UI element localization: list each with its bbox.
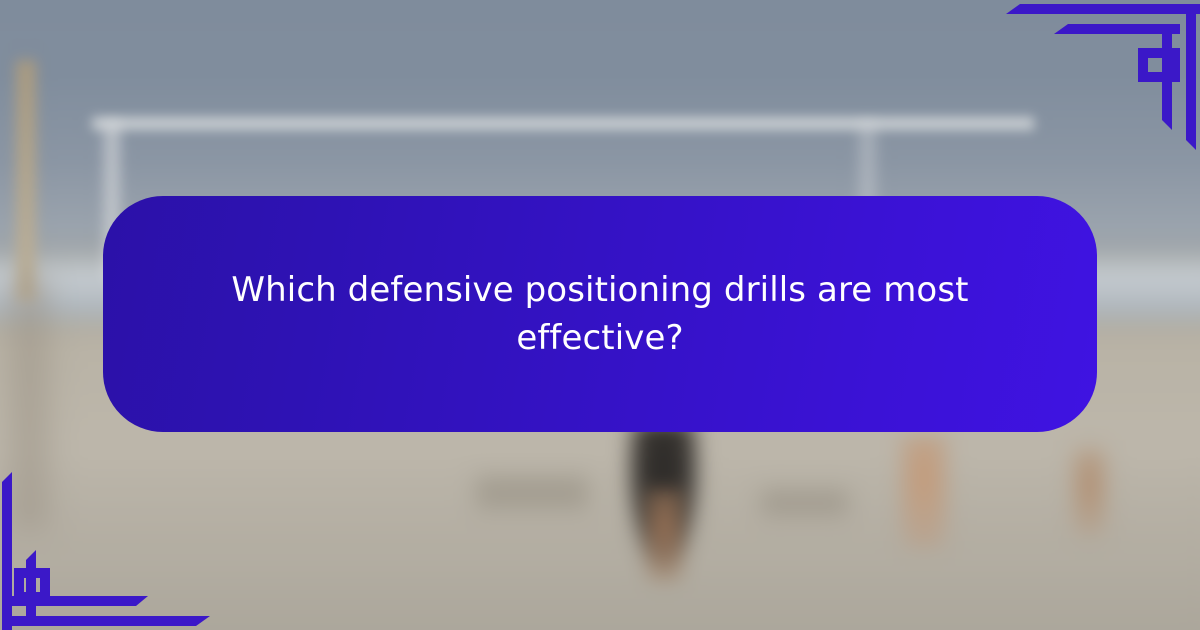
player-figure-right xyxy=(898,436,950,550)
goal-crossbar xyxy=(92,117,1034,130)
sand-shadow-left xyxy=(476,476,588,510)
foreground-sand-layer xyxy=(0,449,1200,630)
question-text: Which defensive positioning drills are m… xyxy=(220,266,980,363)
beach-pole xyxy=(16,60,36,301)
player-figure-far-right xyxy=(1071,449,1108,536)
beach-pole-shadow xyxy=(10,275,50,530)
question-card: Which defensive positioning drills are m… xyxy=(103,196,1097,432)
question-card-banner: Which defensive positioning drills are m… xyxy=(0,0,1200,630)
sand-shadow-right xyxy=(761,489,848,516)
player-legs-center xyxy=(643,489,685,583)
